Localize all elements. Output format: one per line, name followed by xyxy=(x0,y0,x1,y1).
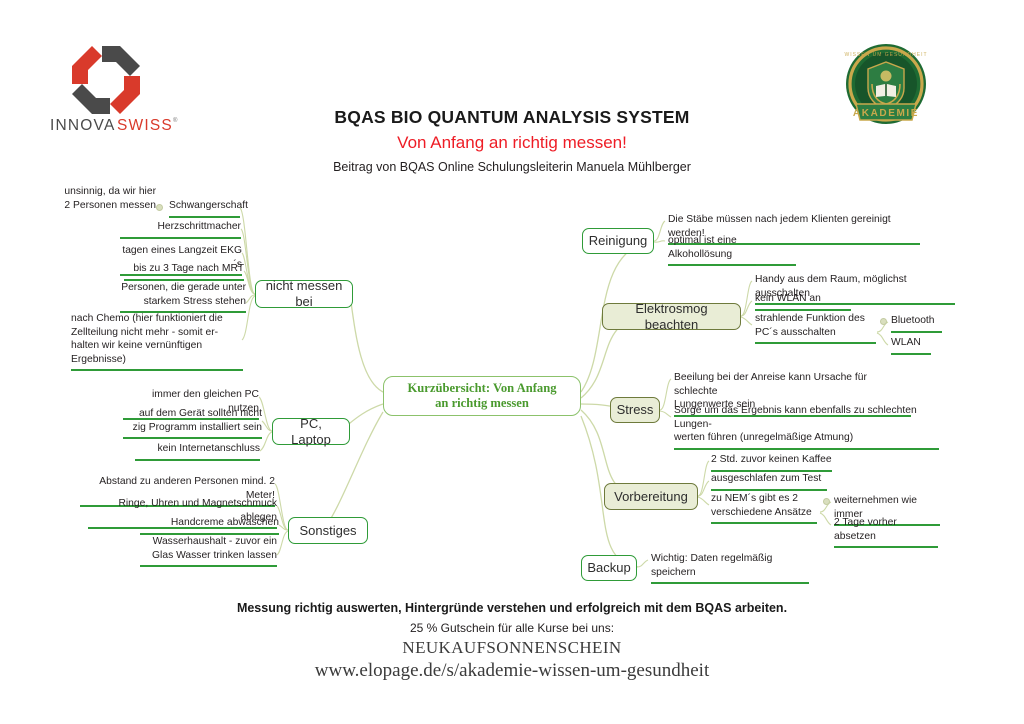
leaf-schwangerschaft[interactable]: Schwangerschaft xyxy=(169,199,240,218)
branch-node-pc-laptop[interactable]: PC, Laptop xyxy=(272,418,350,445)
leaf-nach-chemo[interactable]: nach Chemo (hier funktioniert die Zellte… xyxy=(71,312,243,371)
mindmap-canvas: INNOVA SWISS ® AKADEMIE WISSEN UM GESUND… xyxy=(0,0,1024,724)
branch-node-stress[interactable]: Stress xyxy=(610,397,660,423)
leaf-ausgeschlafen[interactable]: ausgeschlafen zum Test xyxy=(711,472,827,491)
page-subtitle: Von Anfang an richtig messen! xyxy=(0,133,1024,153)
footer-url[interactable]: www.elopage.de/s/akademie-wissen-um-gesu… xyxy=(0,660,1024,682)
svg-text:WISSEN UM GESUNDHEIT: WISSEN UM GESUNDHEIT xyxy=(844,52,927,58)
leaf-kein-wlan[interactable]: kein WLAN an xyxy=(755,292,851,311)
bullet-dot-icon xyxy=(880,318,887,325)
leaf-bluetooth[interactable]: Bluetooth xyxy=(891,314,942,333)
leaf-nem-ansaetze[interactable]: zu NEM´s gibt es 2 verschiedene Ansätze xyxy=(711,492,817,524)
page-credit-line: Beitrag von BQAS Online Schulungsleiteri… xyxy=(0,160,1024,174)
leaf-herzschrittmacher[interactable]: Herzschrittmacher xyxy=(120,220,241,239)
branch-node-vorbereitung[interactable]: Vorbereitung xyxy=(604,483,698,510)
leaf-starker-stress[interactable]: Personen, die gerade unter starkem Stres… xyxy=(120,281,246,313)
branch-node-nicht-messen-bei[interactable]: nicht messen bei xyxy=(255,280,353,308)
leaf-note-schwangerschaft: unsinnig, da wir hier 2 Personen messen xyxy=(48,185,156,212)
leaf-kein-kaffee[interactable]: 2 Std. zuvor keinen Kaffee xyxy=(711,453,832,472)
bullet-dot-icon xyxy=(823,498,830,505)
leaf-absetzen[interactable]: 2 Tage vorher absetzen xyxy=(834,516,938,548)
leaf-wasserhaushalt[interactable]: Wasserhaushalt - zuvor ein Glas Wasser t… xyxy=(140,535,277,567)
leaf-handcreme[interactable]: Handcreme abwaschen xyxy=(140,516,279,535)
leaf-strahlende-funktion[interactable]: strahlende Funktion des PC´s ausschalten xyxy=(755,312,876,344)
leaf-mrt[interactable]: bis zu 3 Tage nach MRT xyxy=(124,262,244,281)
branch-node-elektrosmog[interactable]: Elektrosmog beachten xyxy=(602,303,741,330)
page-title: BQAS BIO QUANTUM ANALYSIS SYSTEM xyxy=(0,107,1024,128)
leaf-daten-speichern[interactable]: Wichtig: Daten regelmäßig speichern xyxy=(651,552,809,584)
central-node[interactable]: Kurzübersicht: Von Anfang an richtig mes… xyxy=(383,376,581,416)
footer-line-2: 25 % Gutschein für alle Kurse bei uns: xyxy=(0,621,1024,635)
bullet-dot-icon xyxy=(156,204,163,211)
branch-node-backup[interactable]: Backup xyxy=(581,555,637,581)
branch-node-reinigung[interactable]: Reinigung xyxy=(582,228,654,254)
leaf-sorge-ergebnis[interactable]: Sorge um das Ergebnis kann ebenfalls zu … xyxy=(674,404,939,450)
footer-voucher-code: NEUKAUFSONNENSCHEIN xyxy=(0,638,1024,658)
leaf-keine-programme[interactable]: auf dem Gerät sollten nicht zig Programm… xyxy=(123,407,262,439)
leaf-kein-internet[interactable]: kein Internetanschluss xyxy=(135,442,260,461)
footer-line-1: Messung richtig auswerten, Hintergründe … xyxy=(0,601,1024,615)
leaf-alkoholloesung[interactable]: optimal ist eine Alkohollösung xyxy=(668,234,796,266)
leaf-wlan[interactable]: WLAN xyxy=(891,336,931,355)
branch-node-sonstiges[interactable]: Sonstiges xyxy=(288,517,368,544)
